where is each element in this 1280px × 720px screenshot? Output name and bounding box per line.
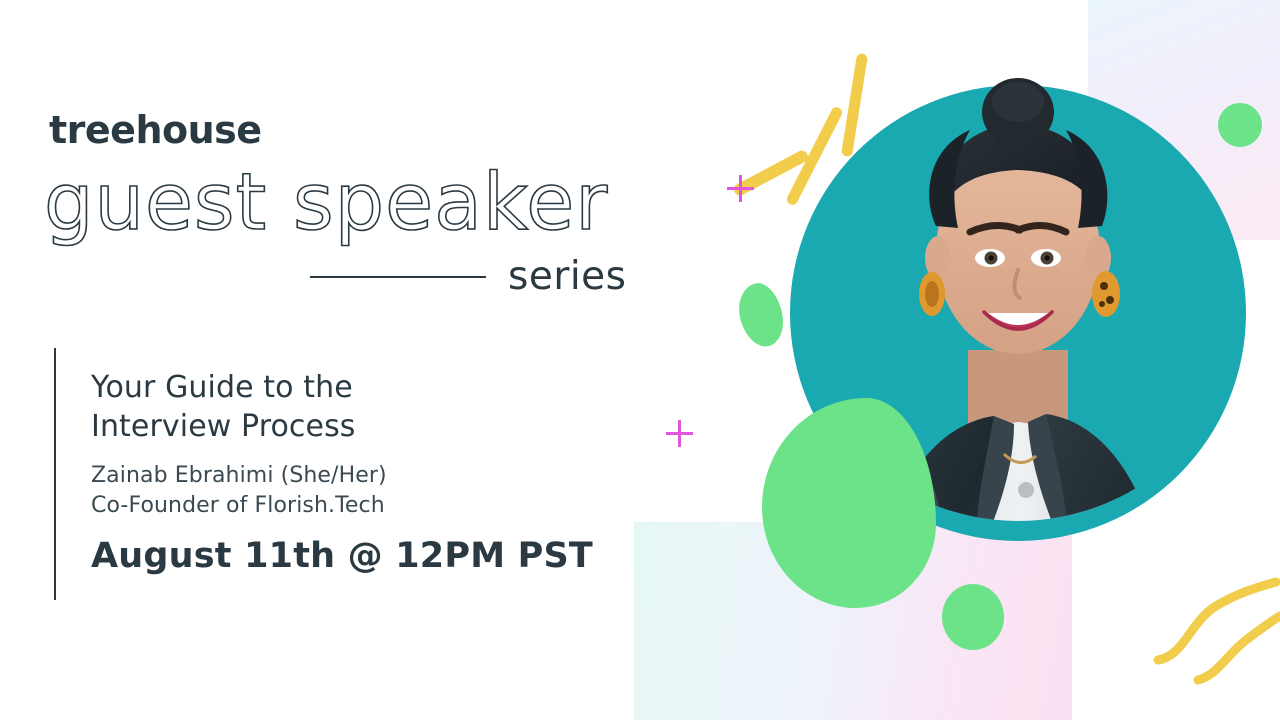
series-row: series (310, 254, 627, 299)
green-bean-shape (762, 398, 936, 608)
headline-outlined: guest speaker (44, 158, 608, 248)
speaker-role: Co-Founder of Florish.Tech (91, 491, 611, 522)
series-divider-rule (310, 276, 486, 278)
session-title-line-1: Your Guide to the (91, 368, 611, 407)
vertical-accent-rule (54, 348, 56, 600)
green-pill-shape (733, 279, 789, 351)
session-title: Your Guide to the Interview Process (91, 368, 611, 447)
promo-slide: treehouse guest speaker series Your Guid… (0, 0, 1280, 720)
event-datetime: August 11th @ 12PM PST (91, 536, 611, 576)
series-label: series (508, 254, 627, 299)
magenta-plus-icon-lower (666, 420, 693, 447)
magenta-plus-icon-upper (727, 175, 754, 202)
yellow-wave-strokes (1150, 560, 1280, 720)
green-circle-bottom (942, 584, 1004, 650)
speaker-name: Zainab Ebrahimi (She/Her) (91, 461, 611, 492)
session-details: Your Guide to the Interview Process Zain… (91, 368, 611, 576)
session-title-line-2: Interview Process (91, 407, 611, 446)
brand-wordmark: treehouse (49, 108, 262, 152)
